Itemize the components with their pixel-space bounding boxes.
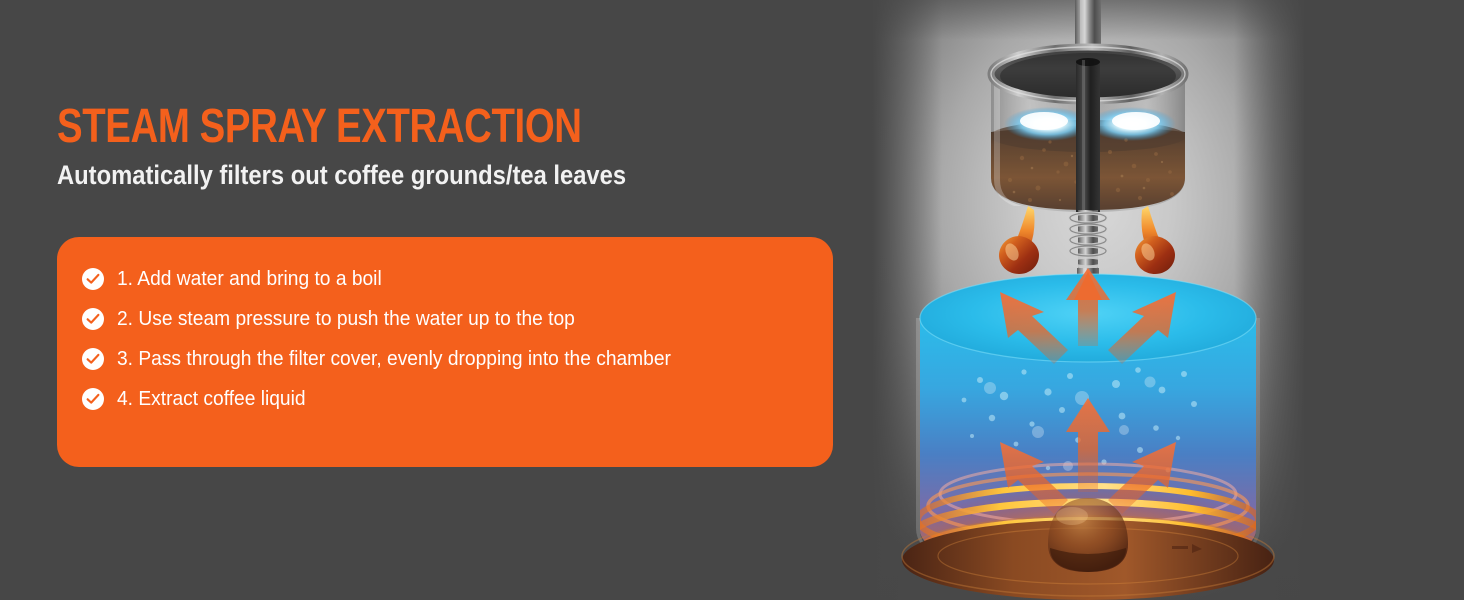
steam-spray-extraction-diagram	[872, 0, 1304, 600]
list-item: 3. Pass through the filter cover, evenly…	[82, 339, 694, 379]
liquid-dome	[1048, 498, 1128, 572]
steps-list: 1. Add water and bring to a boil 2. Use …	[82, 259, 694, 419]
list-item: 1. Add water and bring to a boil	[82, 259, 694, 299]
check-circle-icon	[82, 348, 104, 370]
list-item-label: 3. Pass through the filter cover, evenly…	[117, 348, 671, 370]
check-circle-icon	[82, 388, 104, 410]
coffee-drop-right	[1135, 206, 1175, 274]
page-subtitle: Automatically filters out coffee grounds…	[57, 160, 626, 190]
list-item-label: 4. Extract coffee liquid	[117, 388, 306, 410]
check-circle-icon	[82, 268, 104, 290]
steps-panel: 1. Add water and bring to a boil 2. Use …	[57, 237, 833, 467]
list-item: 4. Extract coffee liquid	[82, 379, 694, 419]
list-item-label: 2. Use steam pressure to push the water …	[117, 308, 575, 330]
page-title: STEAM SPRAY EXTRACTION	[57, 103, 582, 151]
coffee-drop-left	[999, 206, 1039, 274]
steam-spray-jet-right	[1088, 107, 1176, 141]
list-item: 2. Use steam pressure to push the water …	[82, 299, 694, 339]
check-circle-icon	[82, 308, 104, 330]
spring-coil	[1070, 210, 1106, 272]
steam-spray-extraction-banner: STEAM SPRAY EXTRACTION Automatically fil…	[0, 0, 1464, 600]
central-tube-inner	[1076, 58, 1100, 212]
list-item-label: 1. Add water and bring to a boil	[117, 268, 382, 290]
